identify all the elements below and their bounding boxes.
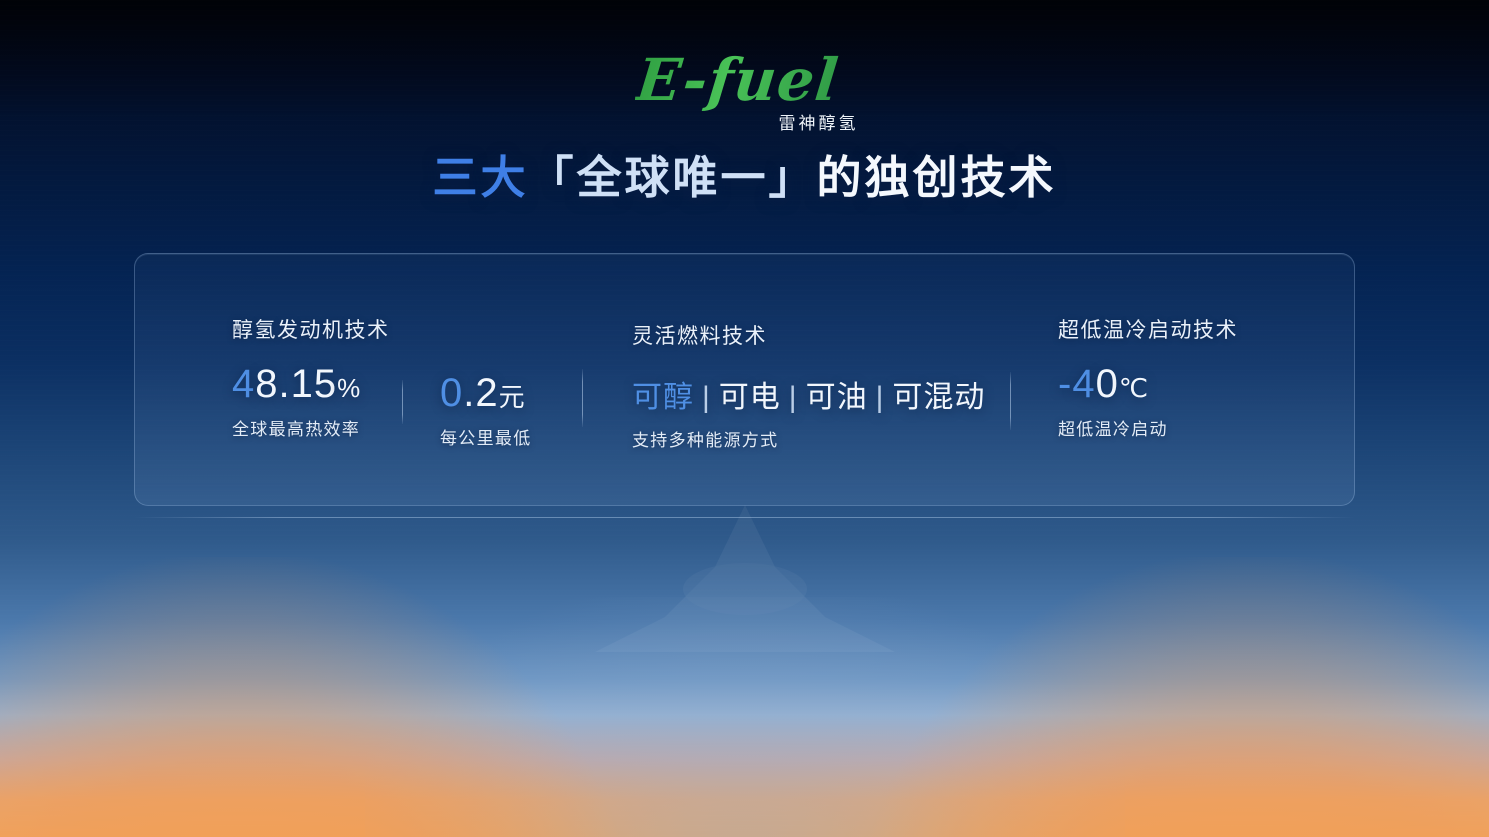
tech-column-cost-value: 0.2元 <box>440 371 532 416</box>
tech-column-fuel-heading: 灵活燃料技术 <box>632 320 985 350</box>
fuel-separator-2: | <box>868 381 893 414</box>
tech-column-coldstart: 超低温冷启动技术 -40℃ 超低温冷启动 <box>1058 314 1238 440</box>
tech-column-engine-value: 48.15% <box>232 362 390 407</box>
coldstart-value-rest: 0 <box>1096 362 1119 406</box>
tech-column-cost-sub: 每公里最低 <box>440 424 532 449</box>
engine-value-rest: 8.15 <box>255 362 337 406</box>
engine-value-unit: % <box>337 373 361 403</box>
tech-column-coldstart-heading: 超低温冷启动技术 <box>1058 314 1238 344</box>
fuel-option-3: 可混动 <box>892 381 985 414</box>
tech-column-fuel: 灵活燃料技术 可醇|可电|可油|可混动 支持多种能源方式 <box>632 320 985 451</box>
tech-column-engine: 醇氢发动机技术 48.15% 全球最高热效率 <box>232 314 390 440</box>
cost-value-rest: .2 <box>463 371 498 415</box>
tech-column-fuel-sub: 支持多种能源方式 <box>632 426 985 451</box>
coldstart-value-unit: ℃ <box>1119 373 1149 403</box>
tech-column-fuel-options: 可醇|可电|可油|可混动 <box>632 372 985 416</box>
fuel-separator-1: | <box>781 381 806 414</box>
column-divider-2 <box>582 369 583 427</box>
fuel-option-2: 可油 <box>806 381 868 414</box>
tech-column-coldstart-value: -40℃ <box>1058 362 1238 407</box>
fuel-option-1: 可电 <box>719 381 781 414</box>
column-divider-3 <box>1010 372 1011 430</box>
fuel-separator-0: | <box>694 381 719 414</box>
column-divider-1 <box>402 380 403 424</box>
slide-background: E-fuel 雷神醇氢 三大「全球唯一」的独创技术 醇氢发动机技术 48.15%… <box>0 0 1489 837</box>
coldstart-value-accent: -4 <box>1058 362 1096 406</box>
tech-columns: 醇氢发动机技术 48.15% 全球最高热效率 0.2元 每公里最低 灵活燃料技术… <box>0 0 1489 837</box>
fuel-option-0: 可醇 <box>632 381 694 414</box>
tech-column-engine-heading: 醇氢发动机技术 <box>232 314 390 344</box>
cost-value-unit: 元 <box>499 382 526 412</box>
tech-column-engine-sub: 全球最高热效率 <box>232 415 390 440</box>
tech-column-coldstart-sub: 超低温冷启动 <box>1058 415 1238 440</box>
engine-value-accent: 4 <box>232 362 255 406</box>
tech-column-cost: 0.2元 每公里最低 <box>440 371 532 449</box>
cost-value-accent: 0 <box>440 371 463 415</box>
